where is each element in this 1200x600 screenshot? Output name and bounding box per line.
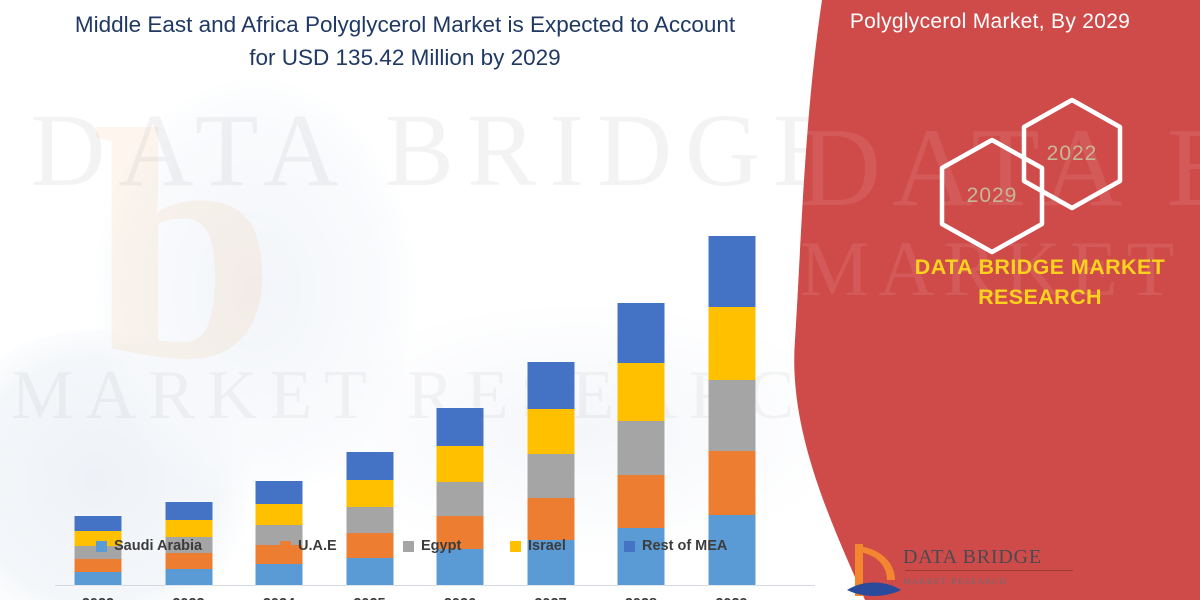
bar-segment (165, 520, 212, 537)
hexagon-2029-label: 2029 (936, 136, 1048, 256)
legend-item-saudi-arabia[interactable]: Saudi Arabia (96, 538, 202, 554)
chart-title: Middle East and Africa Polyglycerol Mark… (35, 8, 775, 74)
x-tick-2023: 2023 (153, 596, 225, 600)
bar-segment (527, 454, 574, 497)
bar-group-2028 (605, 199, 677, 585)
bar-segment (527, 362, 574, 409)
chart-title-line-2: for USD 135.42 Million by 2029 (35, 41, 775, 74)
brand-name: DATA BRIDGE MARKET RESEARCH (880, 252, 1200, 312)
legend-swatch-icon (510, 541, 521, 552)
bar-segment (618, 475, 665, 528)
legend-label: U.A.E (298, 538, 337, 554)
bar-segment (527, 498, 574, 540)
legend-label: Egypt (421, 538, 461, 554)
legend-item-egypt[interactable]: Egypt (403, 538, 461, 554)
bar-segment (256, 504, 303, 525)
brand-name-line-2: RESEARCH (880, 282, 1200, 312)
bar-group-2029 (696, 199, 768, 585)
bar-segment (165, 502, 212, 520)
bar-segment (618, 363, 665, 421)
bar-group-2027 (515, 199, 587, 585)
legend-item-israel[interactable]: Israel (510, 538, 566, 554)
plot-area: 20222023202420252026202720282029 (40, 100, 800, 486)
bar-segment (708, 451, 755, 515)
bar-segment (708, 307, 755, 380)
legend-swatch-icon (403, 541, 414, 552)
company-logo-rule (905, 570, 1073, 571)
legend-swatch-icon (624, 541, 635, 552)
x-tick-2024: 2024 (243, 596, 315, 600)
company-logo-subtitle: MARKET RESEARCH (903, 570, 1078, 592)
company-logo-name: DATA BRIDGE (903, 546, 1042, 568)
bar-group-2026 (424, 199, 496, 585)
bar-group-2023 (153, 199, 225, 585)
hexagon-2029: 2029 (936, 136, 1048, 256)
stacked-bar (256, 481, 303, 585)
bar-segment (618, 421, 665, 475)
legend-label: Rest of MEA (642, 538, 727, 554)
x-tick-2028: 2028 (605, 596, 677, 600)
x-axis-line (55, 585, 815, 586)
legend-item-rest-of-mea[interactable]: Rest of MEA (624, 538, 727, 554)
bar-segment (165, 569, 212, 585)
legend-swatch-icon (96, 541, 107, 552)
chart-panel: b DATA BRIDGE MARKET RESEARCH Middle Eas… (0, 0, 880, 600)
x-tick-2022: 2022 (62, 596, 134, 600)
brand-name-line-1: DATA BRIDGE MARKET (880, 252, 1200, 282)
bar-segment (346, 452, 393, 480)
bar-segment (75, 572, 122, 585)
bar-segment (708, 236, 755, 307)
legend-label: Saudi Arabia (114, 538, 202, 554)
chart-legend: Saudi ArabiaU.A.EEgyptIsraelRest of MEA (40, 538, 800, 564)
legend-item-u-a-e[interactable]: U.A.E (280, 538, 337, 554)
bar-segment (708, 380, 755, 451)
infographic-canvas: b DATA BRIDGE MARKET RESEARCH Middle Eas… (0, 0, 1200, 600)
bar-segment (618, 303, 665, 363)
bar-segment (527, 409, 574, 454)
bar-segment (256, 564, 303, 585)
bar-group-2024 (243, 199, 315, 585)
bar-segment (75, 516, 122, 531)
chart-title-line-1: Middle East and Africa Polyglycerol Mark… (35, 8, 775, 41)
bar-segment (346, 480, 393, 507)
stacked-bar (708, 236, 755, 585)
bar-segment (346, 507, 393, 533)
stacked-bar (346, 452, 393, 585)
branding-panel-title: Polyglycerol Market, By 2029 (790, 8, 1190, 36)
legend-swatch-icon (280, 541, 291, 552)
x-tick-2027: 2027 (515, 596, 587, 600)
company-logo-text: DATA BRIDGE MARKET RESEARCH (903, 546, 1078, 592)
bar-group-2025 (334, 199, 406, 585)
x-tick-2025: 2025 (334, 596, 406, 600)
bar-segment (437, 408, 484, 446)
x-tick-2029: 2029 (696, 596, 768, 600)
x-tick-2026: 2026 (424, 596, 496, 600)
bar-group-2022 (62, 199, 134, 585)
legend-label: Israel (528, 538, 566, 554)
company-logo: DATA BRIDGE MARKET RESEARCH (845, 536, 1075, 600)
bar-segment (256, 481, 303, 503)
bar-segment (437, 446, 484, 482)
company-logo-mark-icon (845, 540, 903, 600)
bar-segment (437, 482, 484, 516)
